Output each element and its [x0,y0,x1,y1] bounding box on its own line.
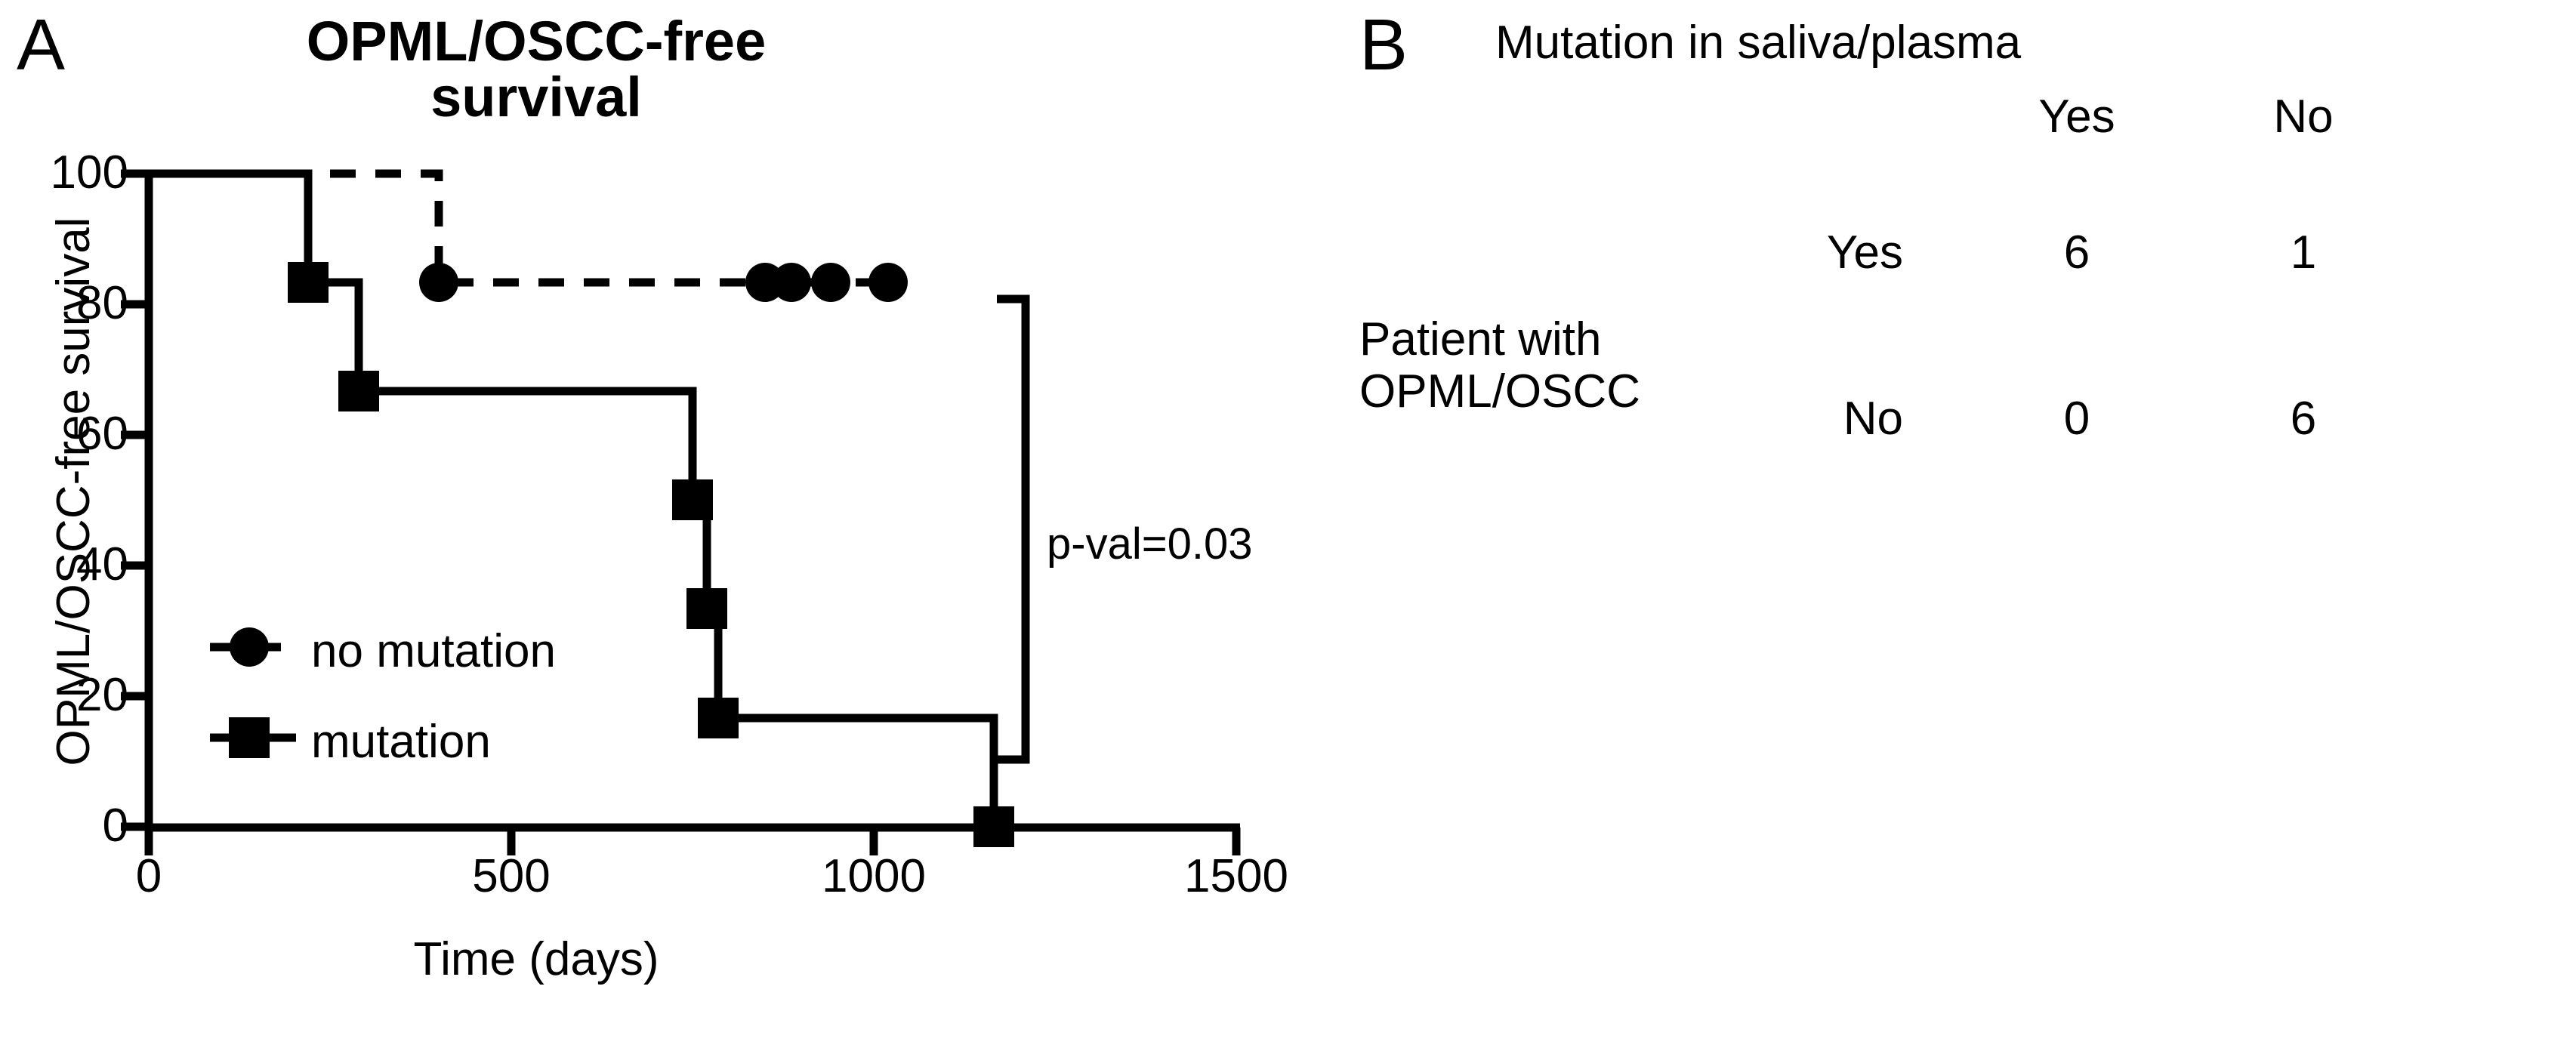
table-row-header-yes: Yes [1729,227,1903,279]
y-axis-ticks [121,174,149,827]
mutation-event-markers [288,262,1014,847]
table-column-group-header: Mutation in saliva/plasma [1495,17,2021,69]
circle-marker-icon [230,627,269,667]
figure-root: A OPML/OSCC-free survival OPML/OSCC-free… [0,0,2576,1051]
square-marker-icon [229,717,270,758]
no-mutation-step-line [149,174,888,282]
series-no-mutation [149,174,908,302]
table-row-group-header-line1: Patient with [1359,313,1602,365]
censor-marker [772,263,811,302]
legend-key-no-mutation [210,627,296,667]
event-marker [973,806,1014,847]
table-row-group-header: Patient with OPML/OSCC [1359,313,1640,418]
event-marker [698,698,739,738]
censor-marker [419,263,458,302]
table-row-header-no: No [1729,393,1903,445]
legend [210,627,296,758]
legend-key-mutation [210,717,296,758]
table-cell: 1 [2220,227,2386,279]
no-mutation-censor-markers [419,263,908,302]
x-axis-ticks [149,828,1236,855]
table-column-header-yes: Yes [1994,91,2160,143]
table-column-header-no: No [2220,91,2386,143]
table-cell: 6 [1994,227,2160,279]
event-marker [686,588,727,629]
censor-marker [811,263,850,302]
event-marker [288,262,329,303]
censor-marker [868,263,908,302]
table-cell: 0 [1994,393,2160,445]
table-row-group-header-line2: OPML/OSCC [1359,365,1640,418]
table-cell: 6 [2220,393,2386,445]
significance-bracket [997,299,1026,760]
event-marker [338,371,379,411]
event-marker [672,479,713,520]
mutation-step-line [149,174,994,827]
